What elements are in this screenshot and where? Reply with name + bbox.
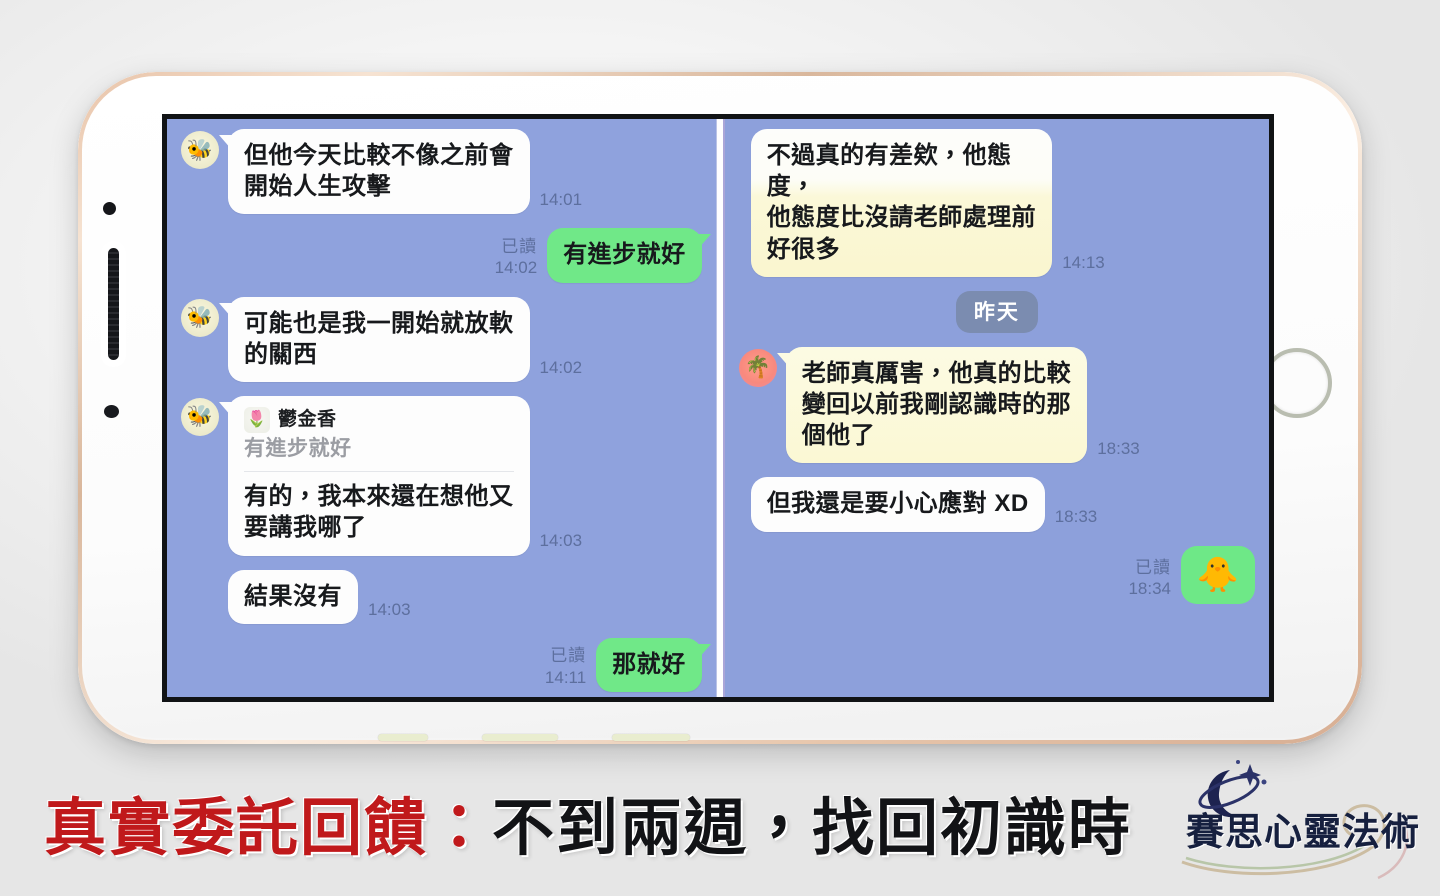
message-row[interactable]: 🐝 可能也是我一開始就放軟 的關西 14:02	[181, 297, 702, 382]
bottom-edge-slots	[378, 733, 1058, 742]
slot-2	[482, 734, 558, 741]
microphone-icon	[104, 405, 119, 418]
incoming-bubble-highlighted[interactable]: 不過真的有差欸，他態 度， 他態度比沒請老師處理前 好很多	[751, 129, 1053, 277]
message-meta: 14:13	[1062, 252, 1105, 273]
chat-panel-left[interactable]: 🐝 但他今天比較不像之前會 開始人生攻擊 14:01 已讀 14:02	[167, 119, 716, 697]
brand-name: 賽思心靈法術	[1186, 801, 1420, 856]
timestamp: 14:02	[540, 357, 583, 378]
message-line: 但他今天比較不像之前會	[244, 140, 514, 171]
avatar-glyph: 🐝	[187, 406, 213, 427]
message-row[interactable]: 結果沒有 14:03	[181, 570, 702, 624]
read-receipt: 已讀	[501, 236, 537, 257]
caption-black-text: 不到兩週，找回初識時	[492, 777, 1132, 867]
bubble-tail-icon	[219, 402, 232, 417]
message-meta: 14:03	[540, 530, 583, 551]
bubble-tail-icon	[777, 353, 790, 368]
message-line: 那就好	[612, 649, 686, 680]
phone-mockup: 🐝 但他今天比較不像之前會 開始人生攻擊 14:01 已讀 14:02	[78, 72, 1362, 744]
bee-avatar-icon: 🐝	[181, 299, 219, 337]
message-row[interactable]: 已讀 14:11 那就好	[181, 638, 702, 692]
message-meta: 已讀 14:11	[545, 645, 586, 688]
message-line: 但我還是要小心應對 XD	[767, 488, 1029, 519]
bee-avatar-icon: 🐝	[181, 131, 219, 169]
message-line: 老師真厲害，他真的比較	[802, 358, 1072, 389]
message-line: 的關西	[244, 339, 514, 370]
palm-tree-avatar-icon: 🌴	[739, 349, 777, 387]
message-line-underlined: 好很多	[767, 236, 841, 263]
message-meta: 14:01	[540, 189, 583, 210]
message-line-underlined: 個他了	[802, 422, 876, 449]
bubble-tail-icon	[219, 135, 232, 150]
bubble-tail-icon	[698, 644, 711, 659]
tulip-glyph: 🌷	[247, 410, 267, 431]
incoming-bubble-with-quote[interactable]: 🌷 鬱金香 有進步就好 有的，我本來還在想他又 要講我哪了	[228, 396, 530, 556]
incoming-bubble[interactable]: 但我還是要小心應對 XD	[751, 477, 1045, 531]
bee-avatar-icon: 🐝	[181, 398, 219, 436]
timestamp: 14:01	[540, 189, 583, 210]
timestamp: 18:33	[1097, 438, 1140, 459]
read-receipt: 已讀	[550, 645, 586, 666]
chat-panel-right[interactable]: 不過真的有差欸，他態 度， 他態度比沒請老師處理前 好很多 14:13 昨天 🌴	[725, 119, 1269, 697]
message-row[interactable]: 但我還是要小心應對 XD 18:33	[739, 477, 1255, 531]
message-row[interactable]: 🐝 但他今天比較不像之前會 開始人生攻擊 14:01	[181, 129, 702, 214]
bubble-tail-icon	[698, 234, 711, 249]
incoming-bubble[interactable]: 結果沒有	[228, 570, 358, 624]
phone-screen: 🐝 但他今天比較不像之前會 開始人生攻擊 14:01 已讀 14:02	[167, 119, 1269, 697]
message-meta: 已讀 14:02	[495, 236, 538, 279]
incoming-bubble[interactable]: 可能也是我一開始就放軟 的關西	[228, 297, 530, 382]
panel-divider	[716, 119, 725, 697]
read-receipt: 已讀	[1135, 557, 1171, 578]
message-row[interactable]: 不過真的有差欸，他態 度， 他態度比沒請老師處理前 好很多 14:13	[739, 129, 1255, 277]
timestamp: 18:34	[1128, 578, 1171, 599]
message-meta: 14:03	[368, 599, 411, 620]
timestamp: 14:03	[540, 530, 583, 551]
timestamp: 14:02	[495, 257, 538, 278]
message-line-underlined: 變回以前我剛認識時的那	[802, 391, 1072, 418]
duck-sticker-icon[interactable]: 🐥	[1181, 546, 1255, 604]
quoted-message[interactable]: 🌷 鬱金香 有進步就好	[244, 407, 514, 472]
message-row[interactable]: 已讀 14:02 有進步就好	[181, 228, 702, 282]
message-line: 有的，我本來還在想他又	[244, 481, 514, 512]
message-line: 度，	[767, 171, 1037, 202]
avatar-glyph: 🌴	[745, 357, 771, 378]
outgoing-bubble[interactable]: 有進步就好	[547, 228, 702, 282]
outgoing-bubble[interactable]: 那就好	[596, 638, 702, 692]
timestamp: 18:33	[1055, 506, 1098, 527]
slot-3	[612, 734, 690, 741]
day-divider-label: 昨天	[956, 291, 1038, 333]
avatar-glyph: 🐝	[187, 140, 213, 161]
quoted-message-body: 有進步就好	[244, 435, 514, 462]
timestamp: 14:03	[368, 599, 411, 620]
message-row[interactable]: 🐝 🌷 鬱金香 有進步就好 有的，我本來還在想他又 要講我	[181, 396, 702, 556]
quoted-message-header: 🌷 鬱金香	[244, 407, 514, 433]
brand-logo: 賽思心靈法術	[1172, 758, 1422, 890]
sticker-glyph: 🐥	[1197, 558, 1239, 592]
day-divider: 昨天	[739, 291, 1255, 333]
timestamp: 14:11	[545, 667, 586, 688]
tulip-icon: 🌷	[244, 407, 270, 433]
incoming-bubble[interactable]: 但他今天比較不像之前會 開始人生攻擊	[228, 129, 530, 214]
message-row[interactable]: 已讀 18:34 🐥	[739, 546, 1255, 604]
message-line: 不過真的有差欸，他態	[767, 140, 1037, 171]
message-line-underlined: 他態度比沒請老師處理前	[767, 204, 1037, 231]
message-meta: 18:33	[1055, 506, 1098, 527]
slot-1	[378, 734, 428, 741]
timestamp: 14:13	[1062, 252, 1105, 273]
caption-red-text: 真實委託回饋：	[44, 777, 492, 867]
message-line: 要講我哪了	[244, 512, 514, 543]
bubble-tail-icon	[219, 303, 232, 318]
message-line: 可能也是我一開始就放軟	[244, 308, 514, 339]
message-line: 有進步就好	[563, 239, 686, 270]
message-line: 結果沒有	[244, 581, 342, 612]
incoming-bubble-highlighted[interactable]: 老師真厲害，他真的比較 變回以前我剛認識時的那 個他了	[786, 347, 1088, 464]
avatar-glyph: 🐝	[187, 307, 213, 328]
message-meta: 14:02	[540, 357, 583, 378]
message-line: 開始人生攻擊	[244, 171, 514, 202]
message-meta: 18:33	[1097, 438, 1140, 459]
message-meta: 已讀 18:34	[1128, 557, 1171, 600]
earpiece-speaker-icon	[108, 248, 119, 360]
quoted-sender-name: 鬱金香	[278, 408, 337, 433]
screen-bezel: 🐝 但他今天比較不像之前會 開始人生攻擊 14:01 已讀 14:02	[162, 114, 1274, 702]
message-row[interactable]: 🌴 老師真厲害，他真的比較 變回以前我剛認識時的那 個他了 18:33	[739, 347, 1255, 464]
